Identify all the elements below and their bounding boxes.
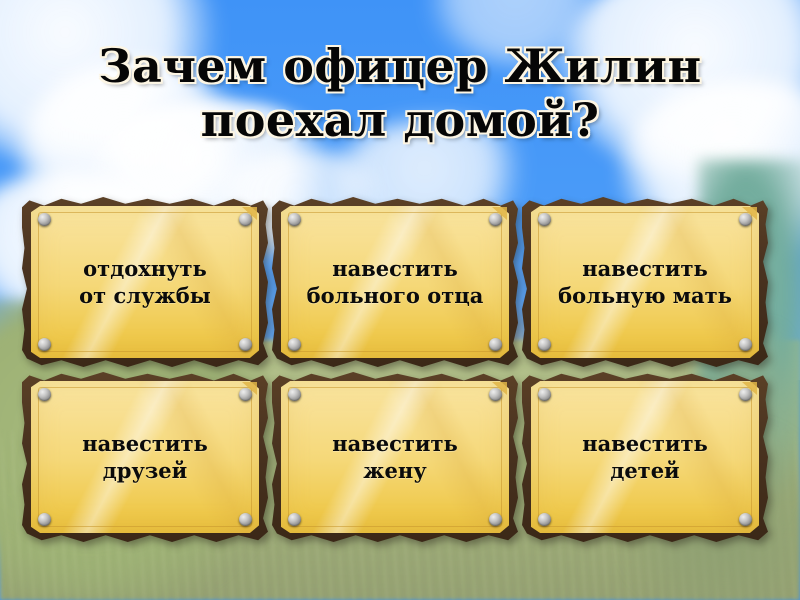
card-parchment-face (281, 206, 509, 358)
rivet-icon-top-left (538, 388, 551, 401)
rivet-icon-top-left (288, 213, 301, 226)
card-parchment-face (31, 206, 259, 358)
rivet-icon-bottom-right (739, 513, 752, 526)
answer-card-2[interactable]: навестить больного отца (272, 197, 518, 367)
answer-card-5[interactable]: навестить жену (272, 372, 518, 542)
card-parchment-face (281, 381, 509, 533)
card-parchment-face (531, 206, 759, 358)
answer-card-1[interactable]: отдохнуть от службы (22, 197, 268, 367)
rivet-icon-top-right (489, 388, 502, 401)
rivet-icon-bottom-right (239, 513, 252, 526)
rivet-icon-top-left (538, 213, 551, 226)
rivet-icon-bottom-left (38, 513, 51, 526)
card-parchment-face (531, 381, 759, 533)
rivet-icon-bottom-left (288, 338, 301, 351)
rivet-icon-bottom-right (489, 513, 502, 526)
rivet-icon-top-right (739, 213, 752, 226)
rivet-icon-top-right (489, 213, 502, 226)
answer-card-6[interactable]: навестить детей (522, 372, 768, 542)
rivet-icon-bottom-left (538, 338, 551, 351)
rivet-icon-top-left (38, 388, 51, 401)
rivet-icon-bottom-right (489, 338, 502, 351)
rivet-icon-top-left (288, 388, 301, 401)
rivet-icon-bottom-left (538, 513, 551, 526)
rivet-icon-top-right (239, 388, 252, 401)
rivet-icon-bottom-left (288, 513, 301, 526)
rivet-icon-top-right (239, 213, 252, 226)
rivet-icon-bottom-right (239, 338, 252, 351)
answer-card-3[interactable]: навестить больную мать (522, 197, 768, 367)
rivet-icon-bottom-left (38, 338, 51, 351)
card-parchment-face (31, 381, 259, 533)
answer-card-4[interactable]: навестить друзей (22, 372, 268, 542)
answer-grid: отдохнуть от службы навестить больного о… (22, 197, 782, 542)
rivet-icon-bottom-right (739, 338, 752, 351)
rivet-icon-top-left (38, 213, 51, 226)
rivet-icon-top-right (739, 388, 752, 401)
